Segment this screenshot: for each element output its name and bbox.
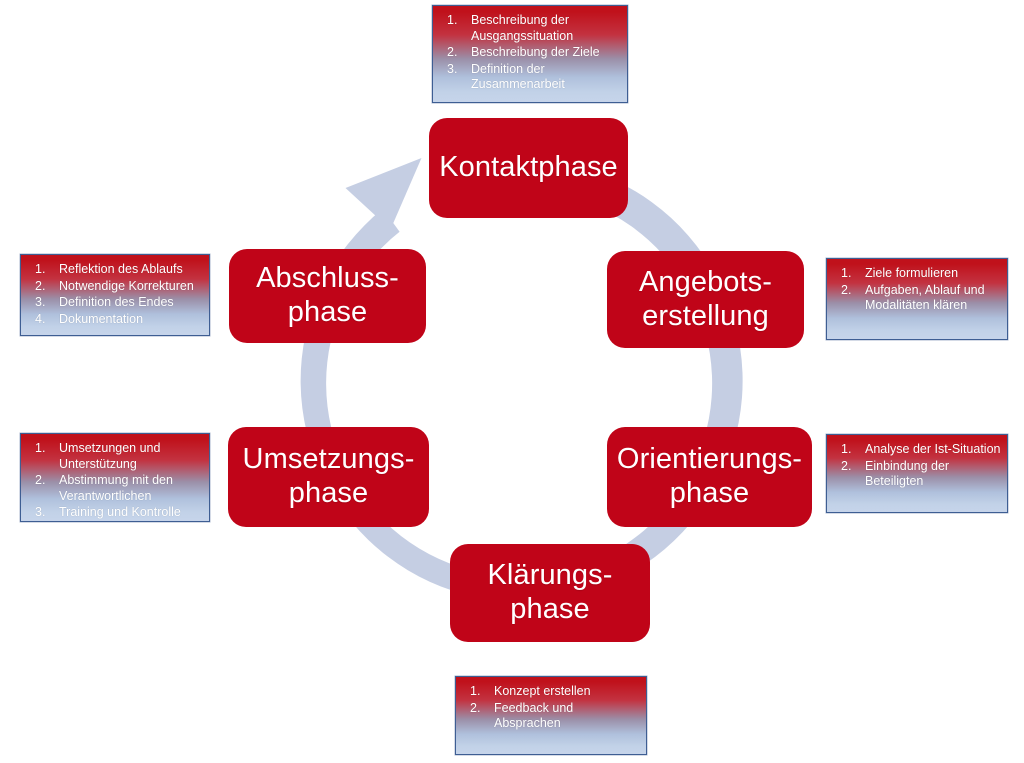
phase-label: Umsetzungs- phase xyxy=(243,443,415,510)
detail-item: Umsetzungen und Unterstützung xyxy=(29,441,203,472)
detail-box-umsetzungsphase: Umsetzungen und Unterstützung Abstimmung… xyxy=(20,433,210,522)
detail-item: Dokumentation xyxy=(29,312,203,328)
phase-node-angebotserstellung[interactable]: Angebots- erstellung xyxy=(607,251,804,348)
detail-item: Notwendige Korrekturen xyxy=(29,279,203,295)
detail-item: Definition der Zusammenarbeit xyxy=(441,62,621,93)
detail-list-kontaktphase: Beschreibung der Ausgangssituation Besch… xyxy=(441,13,621,93)
detail-box-klaerungsphase: Konzept erstellen Feedback und Absprache… xyxy=(455,676,647,755)
diagram-canvas: Beschreibung der Ausgangssituation Besch… xyxy=(0,0,1024,763)
detail-item: Reflektion des Ablaufs xyxy=(29,262,203,278)
phase-label: Klärungs- phase xyxy=(487,559,612,626)
detail-item: Feedback und Absprachen xyxy=(464,701,640,732)
detail-item: Konzept erstellen xyxy=(464,684,640,700)
detail-item: Ziele formulieren xyxy=(835,266,1001,282)
detail-item: Beschreibung der Ziele xyxy=(441,45,621,61)
detail-list-angebotserstellung: Ziele formulieren Aufgaben, Ablauf und M… xyxy=(835,266,1001,314)
detail-list-abschlussphase: Reflektion des Ablaufs Notwendige Korrek… xyxy=(29,262,203,327)
detail-item: Aufgaben, Ablauf und Modalitäten klären xyxy=(835,283,1001,314)
phase-node-kontaktphase[interactable]: Kontaktphase xyxy=(429,118,628,218)
phase-label: Angebots- erstellung xyxy=(639,266,772,333)
detail-list-umsetzungsphase: Umsetzungen und Unterstützung Abstimmung… xyxy=(29,441,203,521)
phase-node-umsetzungsphase[interactable]: Umsetzungs- phase xyxy=(228,427,429,527)
detail-list-orientierungsphase: Analyse der Ist-Situation Einbindung der… xyxy=(835,442,1001,490)
phase-label: Orientierungs- phase xyxy=(617,443,802,510)
detail-item: Einbindung der Beteiligten xyxy=(835,459,1001,490)
phase-node-orientierungsphase[interactable]: Orientierungs- phase xyxy=(607,427,812,527)
detail-item: Analyse der Ist-Situation xyxy=(835,442,1001,458)
cycle-arrow-icon xyxy=(0,0,1024,763)
phase-label: Abschluss- phase xyxy=(256,262,399,329)
phase-node-abschlussphase[interactable]: Abschluss- phase xyxy=(229,249,426,343)
detail-box-angebotserstellung: Ziele formulieren Aufgaben, Ablauf und M… xyxy=(826,258,1008,340)
detail-box-kontaktphase: Beschreibung der Ausgangssituation Besch… xyxy=(432,5,628,103)
detail-item: Beschreibung der Ausgangssituation xyxy=(441,13,621,44)
detail-box-orientierungsphase: Analyse der Ist-Situation Einbindung der… xyxy=(826,434,1008,513)
detail-item: Abstimmung mit den Verantwortlichen xyxy=(29,473,203,504)
detail-item: Definition des Endes xyxy=(29,295,203,311)
phase-label: Kontaktphase xyxy=(439,151,618,185)
detail-box-abschlussphase: Reflektion des Ablaufs Notwendige Korrek… xyxy=(20,254,210,336)
detail-item: Training und Kontrolle xyxy=(29,505,203,521)
phase-node-klaerungsphase[interactable]: Klärungs- phase xyxy=(450,544,650,642)
detail-list-klaerungsphase: Konzept erstellen Feedback und Absprache… xyxy=(464,684,640,732)
